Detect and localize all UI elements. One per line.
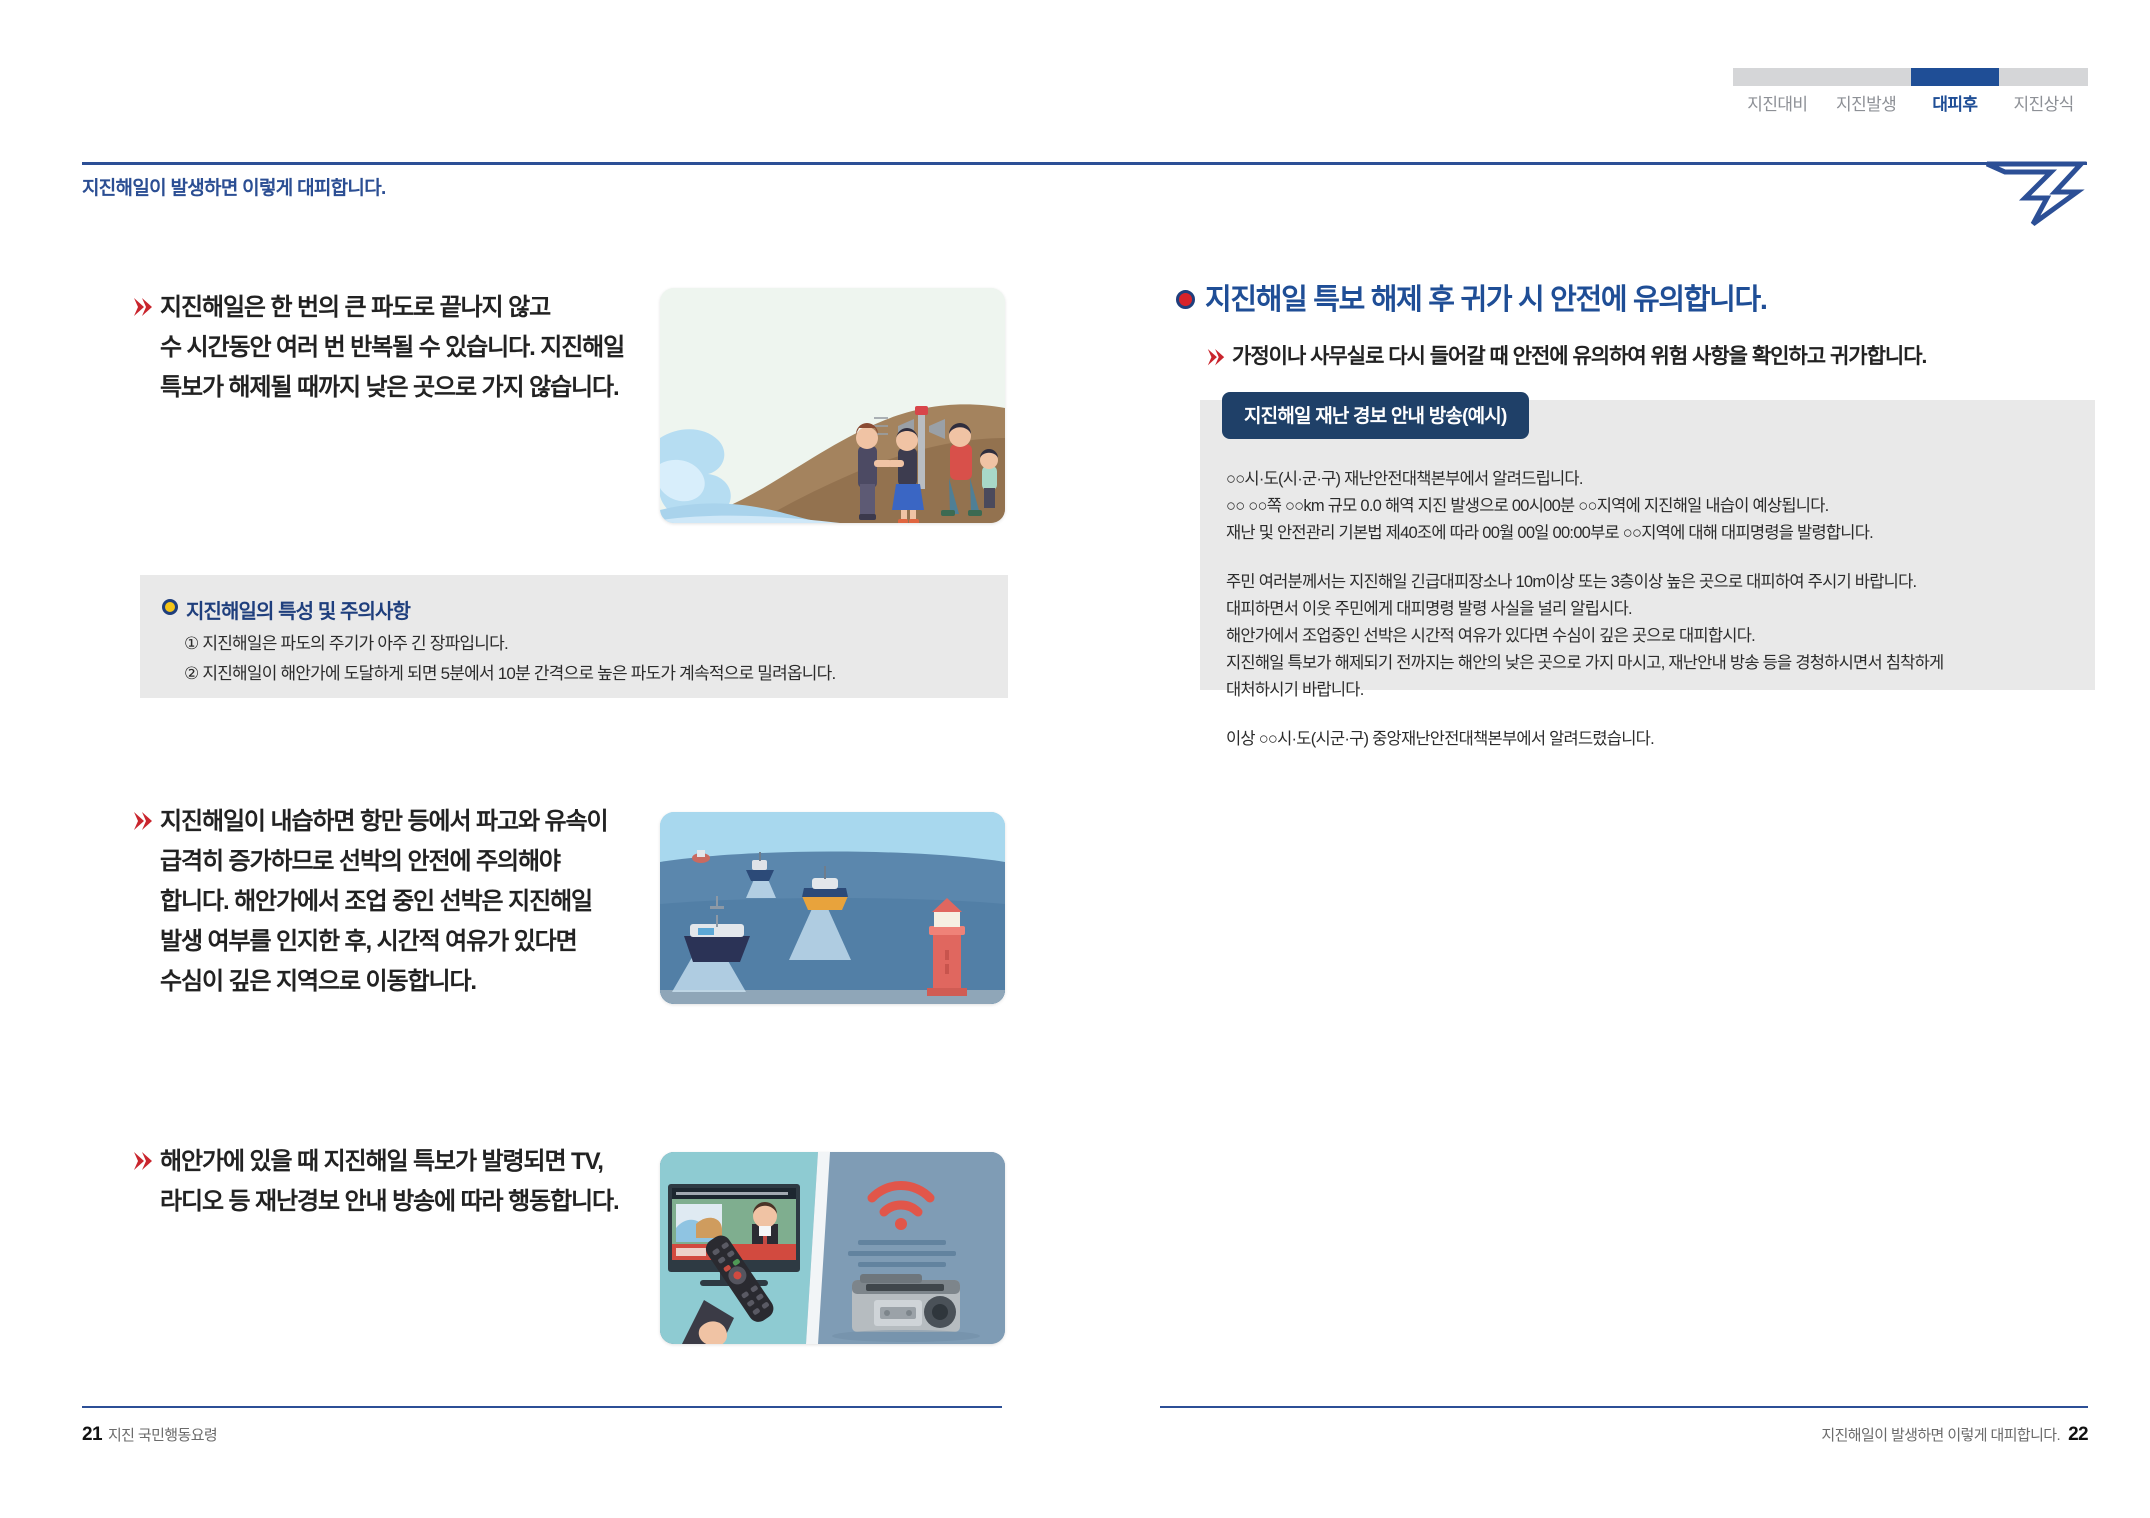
footer-rule-right: [1160, 1406, 2088, 1408]
broadcast-line-p1-3: 재난 및 안전관리 기본법 제40조에 따라 00월 00일 00:00부로 ○…: [1226, 520, 2071, 547]
note-box-item-2: ② 지진해일이 해안가에 도달하게 되면 5분에서 10분 간격으로 높은 파도…: [184, 659, 835, 684]
boats-offshore-illustration: [660, 812, 1005, 1004]
tab-active-indicator: [1911, 68, 2000, 86]
left-bullet-text-1: 지진해일은 한 번의 큰 파도로 끝나지 않고 수 시간동안 여러 번 반복될 …: [160, 288, 680, 408]
footer-rule-left: [82, 1406, 1002, 1408]
footer-left: 21지진 국민행동요령: [82, 1424, 217, 1446]
broadcast-line-p2-1: 주민 여러분께서는 지진해일 긴급대피장소나 10m이상 또는 3층이상 높은 …: [1226, 569, 2071, 596]
footer-right-text: 지진해일이 발생하면 이렇게 대피합니다.: [1821, 1427, 2060, 1444]
red-arrow-bullet-icon: [1206, 347, 1228, 373]
broadcast-line-p2-3: 해안가에서 조업중인 선박은 시간적 여유가 있다면 수심이 깊은 곳으로 대피…: [1226, 623, 2071, 650]
circle-bullet-icon: [1176, 290, 1195, 309]
running-head-title: 지진해일이 발생하면 이렇게 대피합니다.: [82, 173, 386, 200]
tab-2[interactable]: 지진발생: [1822, 90, 1911, 115]
red-arrow-bullet-icon: [132, 1150, 154, 1176]
note-box-item-1: ① 지진해일은 파도의 주기가 아주 긴 장파입니다.: [184, 629, 508, 654]
red-arrow-bullet-icon: [132, 810, 154, 836]
broadcast-box-label: 지진해일 재난 경보 안내 방송(예시): [1222, 392, 1529, 439]
page-number-left: 21: [82, 1424, 102, 1445]
tab-3[interactable]: 대피후: [1911, 90, 2000, 115]
footer-left-text: 지진 국민행동요령: [108, 1427, 217, 1444]
header-rule: [82, 162, 2087, 165]
paragraph-gap: [1226, 547, 2071, 569]
paragraph-gap: [1226, 704, 2071, 726]
note-box-title: 지진해일의 특성 및 주의사항: [186, 595, 410, 624]
section-tab-navigation[interactable]: 지진대비지진발생대피후지진상식: [1733, 68, 2088, 130]
red-arrow-bullet-icon: [132, 296, 154, 322]
tab-1[interactable]: 지진대비: [1733, 90, 1822, 115]
tsunami-hill-evacuation-illustration: [660, 288, 1005, 523]
seismic-bolt-icon: [1985, 158, 2095, 228]
page-number-right: 22: [2068, 1424, 2088, 1445]
tab-4[interactable]: 지진상식: [1999, 90, 2088, 115]
broadcast-line-p2-4: 지진해일 특보가 해제되기 전까지는 해안의 낮은 곳으로 가지 마시고, 재난…: [1226, 650, 2071, 677]
broadcast-line-p1-1: ○○시·도(시·군·구) 재난안전대책본부에서 알려드립니다.: [1226, 466, 2071, 493]
circle-bullet-icon: [162, 599, 178, 615]
section-heading: 지진해일 특보 해제 후 귀가 시 안전에 유의합니다.: [1205, 276, 1767, 318]
footer-right: 지진해일이 발생하면 이렇게 대피합니다.22: [1821, 1424, 2088, 1446]
left-bullet-text-3: 해안가에 있을 때 지진해일 특보가 발령되면 TV, 라디오 등 재난경보 안…: [160, 1142, 680, 1222]
broadcast-line-p2-5: 대처하시기 바랍니다.: [1226, 677, 2071, 704]
section-subtext: 가정이나 사무실로 다시 들어갈 때 안전에 유의하여 위험 사항을 확인하고 …: [1232, 340, 1926, 370]
broadcast-example-box: 지진해일 재난 경보 안내 방송(예시) ○○시·도(시·군·구) 재난안전대책…: [1200, 400, 2095, 690]
broadcast-line-p2-2: 대피하면서 이웃 주민에게 대피명령 발령 사실을 널리 알립시다.: [1226, 596, 2071, 623]
tsunami-characteristics-note-box: 지진해일의 특성 및 주의사항 ① 지진해일은 파도의 주기가 아주 긴 장파입…: [140, 575, 1008, 698]
broadcast-box-body: ○○시·도(시·군·구) 재난안전대책본부에서 알려드립니다.○○ ○○쪽 ○○…: [1226, 466, 2071, 753]
left-bullet-text-2: 지진해일이 내습하면 항만 등에서 파고와 유속이 급격히 증가하므로 선박의 …: [160, 802, 680, 1002]
broadcast-line-p1-2: ○○ ○○쪽 ○○km 규모 0.0 해역 지진 발생으로 00시00분 ○○지…: [1226, 493, 2071, 520]
broadcast-line-p3-1: 이상 ○○시·도(시군·구) 중앙재난안전대책본부에서 알려드렸습니다.: [1226, 726, 2071, 753]
guide-page-spread: 지진대비지진발생대피후지진상식 지진해일이 발생하면 이렇게 대피합니다. 지진…: [0, 0, 2150, 1518]
tv-radio-broadcast-illustration: [660, 1152, 1005, 1344]
